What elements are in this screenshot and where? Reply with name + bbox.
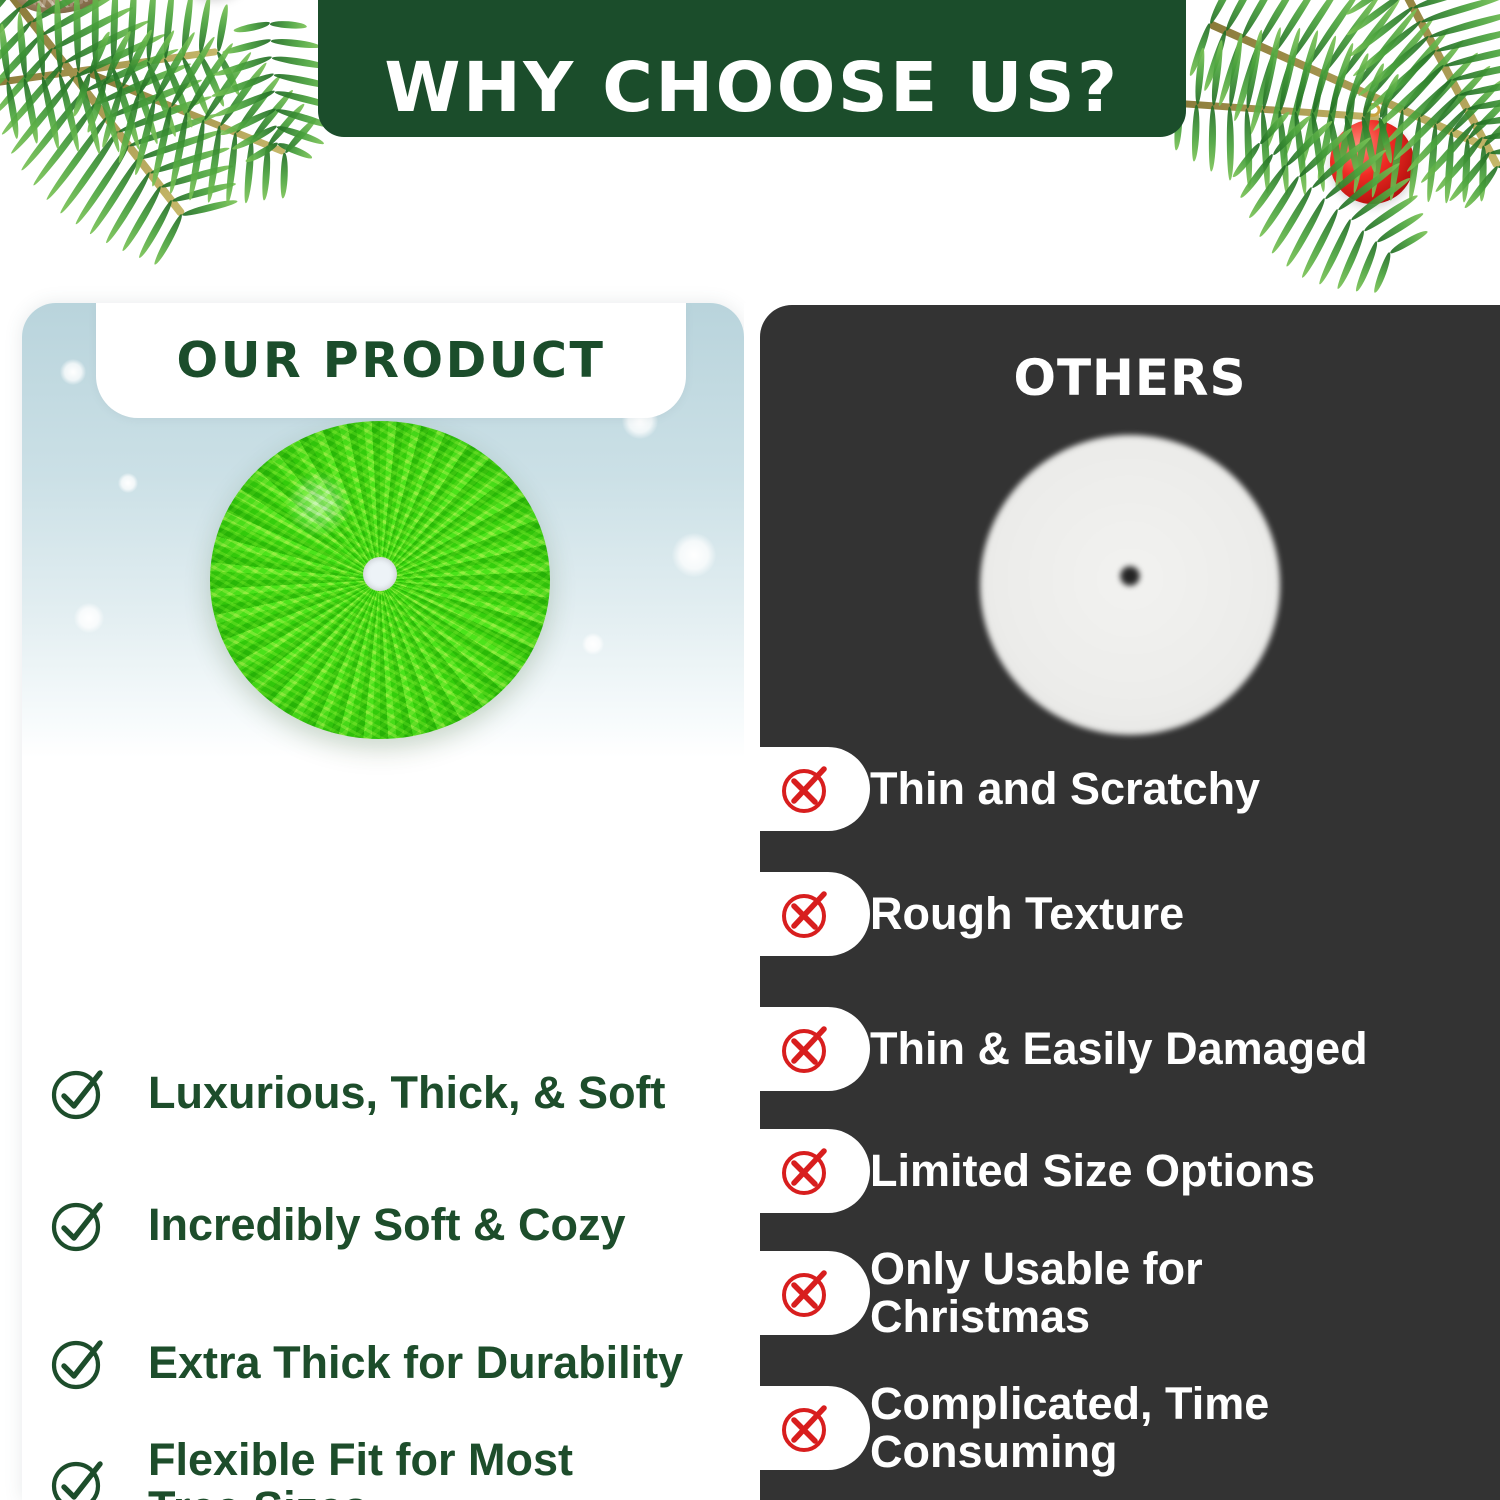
pine-needle: [15, 12, 28, 79]
pine-needle: [1326, 113, 1345, 187]
pine-needle: [266, 101, 307, 148]
pine-needle: [1243, 108, 1253, 188]
pine-needle: [0, 5, 23, 57]
pine-needle: [73, 31, 166, 80]
others-panel: OTHERS Thin and Scratchy Rough Texture: [760, 305, 1500, 1500]
pine-needle: [127, 110, 219, 149]
pine-needle: [31, 102, 99, 188]
pine-needle: [1459, 74, 1500, 98]
pine-needle: [120, 185, 164, 253]
pine-needle: [212, 89, 276, 121]
pine-needle: [1293, 111, 1309, 195]
cross-circle-icon: [778, 1265, 834, 1321]
pine-needle: [1336, 0, 1401, 83]
pine-needle: [187, 119, 207, 201]
pine-needle: [1300, 207, 1341, 278]
our-product-panel: OUR PRODUCT Luxurious, Thick, & Soft Inc…: [22, 303, 744, 1500]
pine-needle: [205, 125, 223, 203]
panel-divider: [744, 303, 760, 1500]
pine-needle: [215, 50, 242, 97]
pine-needle: [222, 37, 272, 56]
pine-needle: [74, 70, 103, 154]
pine-needle: [1462, 164, 1500, 210]
pine-needle: [144, 60, 179, 138]
snow-dot: [672, 533, 716, 577]
pine-needle: [103, 28, 133, 81]
pine-needle: [73, 0, 82, 71]
pine-needle: [1223, 0, 1260, 32]
pine-needle: [1270, 113, 1313, 157]
pine-needle: [1264, 58, 1294, 148]
pine-needle: [1239, 0, 1281, 40]
pine-needle: [95, 60, 193, 107]
pine-needle: [168, 112, 191, 195]
pine-needle: [1359, 116, 1378, 173]
pine-needle: [92, 68, 123, 154]
pine-needle: [1372, 252, 1393, 295]
pine-needle: [44, 116, 110, 203]
pine-needle: [1231, 141, 1263, 180]
pine-needle: [180, 55, 213, 119]
our-product-label-pill: OUR PRODUCT: [96, 303, 686, 418]
pine-cone: [2, 0, 130, 24]
pine-needle: [1461, 138, 1471, 202]
pine-needle: [1320, 0, 1383, 76]
pine-needle: [1217, 37, 1246, 108]
pine-needle: [1435, 24, 1500, 54]
pine-needle: [1482, 104, 1500, 148]
others-label: OTHERS: [760, 349, 1500, 407]
pine-needle: [1257, 109, 1291, 146]
pine-needle: [1323, 146, 1388, 201]
pine-needle: [214, 3, 229, 52]
pine-needle: [1343, 51, 1371, 116]
pine-needle: [1368, 16, 1435, 98]
pine-needle: [88, 157, 142, 236]
pine-needle: [224, 132, 239, 204]
pine-needle: [1467, 91, 1500, 112]
pine-needle: [210, 72, 275, 101]
pine-needle: [22, 78, 41, 145]
product-feature-label: Luxurious, Thick, & Soft: [148, 1069, 666, 1117]
pine-needle: [1407, 116, 1423, 202]
pine-needle: [1376, 72, 1400, 118]
others-feature-label: Limited Size Options: [870, 1147, 1315, 1195]
pine-branch-stem: [1180, 100, 1380, 121]
pine-branch-stem: [0, 48, 218, 87]
pine-needle: [1310, 112, 1328, 192]
pine-needle: [1354, 241, 1381, 294]
pine-branch-stem: [7, 0, 186, 217]
product-feature-row: Incredibly Soft & Cozy: [22, 1181, 744, 1269]
others-feature-row: Thin & Easily Damaged: [760, 1005, 1500, 1093]
pine-needle: [1344, 0, 1399, 17]
pine-needle: [162, 0, 177, 59]
pine-needle: [244, 140, 280, 165]
pine-needle: [51, 4, 134, 52]
pine-needle: [153, 212, 186, 266]
pine-needle: [231, 123, 279, 152]
pine-needle: [277, 140, 314, 160]
product-feature-label: Incredibly Soft & Cozy: [148, 1201, 626, 1249]
pine-needle: [104, 171, 153, 245]
pine-needle: [106, 76, 203, 121]
pine-needle: [1226, 107, 1234, 181]
pine-needle: [1420, 0, 1500, 25]
others-feature-row: Only Usable for Christmas: [760, 1235, 1500, 1351]
pine-needle: [1243, 29, 1264, 109]
pine-needle: [1247, 163, 1289, 220]
snow-dot: [74, 603, 104, 633]
pine-needle: [1417, 50, 1480, 119]
pine-needle: [1232, 44, 1262, 122]
pine-needle: [92, 0, 99, 69]
pine-needle: [1388, 109, 1407, 201]
pine-needle: [0, 19, 34, 78]
others-feature-row: Rough Texture: [760, 870, 1500, 958]
snow-dot: [582, 633, 604, 655]
pine-needle: [1388, 228, 1429, 256]
pine-needle: [150, 106, 174, 187]
pine-needle: [162, 58, 196, 129]
pine-needle: [149, 145, 230, 176]
pine-needle: [100, 86, 126, 150]
others-feature-row: Complicated, Time Consuming: [760, 1370, 1500, 1486]
red-ornament-ball: [1330, 120, 1414, 204]
pine-needle: [1349, 176, 1412, 223]
pine-needle: [1433, 135, 1485, 194]
pine-needle: [197, 52, 227, 107]
pine-needle: [271, 37, 322, 50]
pine-needle: [1288, 0, 1344, 61]
pine-needle: [1405, 106, 1470, 174]
pine-needle: [1356, 33, 1431, 98]
pine-needle: [168, 35, 217, 108]
snow-dot: [118, 473, 138, 493]
cross-circle-icon: [778, 1143, 834, 1199]
pine-needle: [160, 162, 234, 190]
pine-needle: [1298, 73, 1326, 171]
pine-needle: [217, 61, 268, 128]
others-feature-label: Complicated, Time Consuming: [870, 1380, 1269, 1476]
pine-needle: [1412, 0, 1490, 10]
pine-needle: [1360, 62, 1387, 118]
pine-needle: [71, 72, 93, 118]
check-circle-icon: [48, 1333, 108, 1393]
pine-needle: [1336, 160, 1401, 212]
pine-needle: [87, 30, 112, 75]
pine-needle: [0, 46, 56, 118]
pine-needle: [197, 0, 213, 54]
pine-needle: [109, 65, 142, 150]
pine-needle: [1370, 102, 1391, 198]
pine-needle: [119, 28, 154, 89]
others-feature-label: Rough Texture: [870, 890, 1184, 938]
pine-branch-stem: [1208, 20, 1485, 149]
pine-needle: [213, 54, 273, 79]
pine-needle: [1310, 134, 1373, 189]
pine-needle: [136, 199, 174, 260]
pine-needle: [1284, 196, 1328, 268]
pine-needle: [1443, 40, 1500, 68]
pine-needle: [109, 0, 119, 66]
pine-needle: [62, 17, 150, 66]
pine-needle: [1346, 0, 1408, 38]
pine-needle: [1375, 210, 1425, 245]
pine-needle: [57, 73, 83, 153]
pine-needle: [1255, 0, 1302, 47]
pine-needle: [4, 80, 20, 138]
pine-needle: [1257, 174, 1302, 238]
pine-needle: [1433, 63, 1492, 126]
pine-needle: [1352, 6, 1419, 90]
snow-dot: [60, 359, 86, 385]
pine-needle: [0, 0, 12, 36]
pine-needle: [219, 106, 277, 138]
pine-needle: [1297, 125, 1355, 179]
pine-needle: [152, 30, 197, 101]
pine-needle: [133, 99, 159, 176]
pine-needle: [1448, 150, 1493, 203]
pine-needle: [243, 139, 256, 204]
pine-needle: [1474, 109, 1500, 127]
pine-needle: [85, 79, 109, 134]
pine-needle: [1362, 193, 1419, 234]
pine-needle: [1310, 35, 1339, 114]
others-feature-label: Thin and Scratchy: [870, 765, 1260, 813]
pine-needle: [1352, 95, 1375, 194]
ornament-hook: [1364, 103, 1381, 116]
pine-needle: [1443, 131, 1455, 203]
page-title: WHY CHOOSE US?: [384, 54, 1119, 123]
pine-needle: [1335, 230, 1367, 291]
others-feature-row: Limited Size Options: [760, 1127, 1500, 1215]
others-feature-label: Thin & Easily Damaged: [870, 1025, 1368, 1073]
pine-needle: [1191, 105, 1200, 162]
pine-needle: [41, 0, 117, 38]
competitor-image-thin-disc: [980, 435, 1280, 735]
pine-needle: [1317, 218, 1354, 286]
pine-needle: [30, 0, 98, 24]
pine-needle: [1210, 40, 1225, 106]
pine-needle: [58, 129, 120, 215]
pine-needle: [1371, 62, 1446, 133]
pine-needle: [233, 20, 271, 35]
pine-needle: [250, 87, 296, 141]
pine-needle: [1202, 30, 1229, 93]
others-feature-label: Only Usable for Christmas: [870, 1245, 1203, 1341]
pine-needle: [1272, 0, 1324, 54]
pine-needle: [201, 50, 253, 121]
pine-needle: [1270, 185, 1315, 254]
product-feature-label: Flexible Fit for Most Tree Sizes: [148, 1436, 573, 1500]
pine-needle: [1376, 117, 1394, 164]
pine-needle: [1284, 118, 1335, 168]
pine-needle: [233, 73, 282, 134]
pine-needle: [1281, 66, 1310, 161]
pine-needle: [1304, 0, 1364, 69]
pine-needle: [1479, 145, 1488, 201]
pine-needle: [1490, 143, 1500, 156]
pine-needle: [1207, 0, 1239, 25]
product-feature-label: Extra Thick for Durability: [148, 1339, 683, 1387]
header-banner: WHY CHOOSE US?: [318, 0, 1186, 137]
pine-needle: [1465, 91, 1500, 141]
pine-needle: [179, 0, 194, 57]
pine-needle: [262, 145, 272, 201]
cross-circle-icon: [778, 1400, 834, 1456]
pine-needle: [182, 197, 239, 218]
pine-needle: [184, 41, 235, 114]
pine-needle: [1193, 48, 1205, 105]
pine-needle: [73, 143, 132, 226]
others-feature-row: Thin and Scratchy: [760, 745, 1500, 833]
pine-needle: [1188, 22, 1214, 77]
product-feature-row: Extra Thick for Durability: [22, 1319, 744, 1407]
cross-circle-icon: [778, 886, 834, 942]
check-circle-icon: [48, 1195, 108, 1255]
our-product-label: OUR PRODUCT: [177, 332, 606, 389]
pine-needle: [280, 152, 289, 198]
check-circle-icon: [48, 1063, 108, 1123]
pine-needle: [276, 123, 326, 146]
pine-needle: [1248, 51, 1278, 136]
cross-circle-icon: [778, 1021, 834, 1077]
pine-needle: [1348, 4, 1416, 59]
pine-needle: [0, 32, 45, 98]
pine-needle: [20, 88, 89, 173]
pine-needle: [116, 93, 212, 135]
pine-needle: [1419, 121, 1478, 185]
pine-branch-stem: [1386, 0, 1500, 169]
pine-needle: [1238, 152, 1276, 200]
pine-needle: [39, 75, 61, 149]
pine-needle: [127, 63, 161, 145]
pine-needle: [1449, 77, 1500, 134]
pine-needle: [1293, 30, 1321, 113]
pine-needle: [1209, 106, 1217, 172]
pine-needle: [1351, 19, 1423, 79]
pine-needle: [0, 60, 67, 137]
pine-needle: [270, 20, 308, 30]
pine-needle: [1276, 27, 1302, 112]
pine-needle: [116, 92, 142, 163]
pine-needle: [1381, 77, 1454, 149]
pine-branch-stem: [89, 70, 286, 155]
pine-needle: [1333, 87, 1358, 187]
pine-needle: [1260, 109, 1272, 193]
pine-needle: [282, 116, 318, 155]
pine-needle: [127, 0, 139, 64]
pine-needle: [0, 23, 11, 81]
product-feature-row: Luxurious, Thick, & Soft: [22, 1049, 744, 1137]
pine-needle: [19, 0, 79, 10]
product-feature-row: Flexible Fit for Most Tree Sizes: [22, 1429, 744, 1500]
pine-needle: [1428, 8, 1500, 39]
pine-needle: [84, 45, 180, 93]
pine-needle: [53, 0, 63, 74]
pine-needle: [1260, 26, 1284, 110]
cross-circle-icon: [778, 761, 834, 817]
pine-needle: [9, 74, 77, 156]
pine-needle: [1276, 110, 1290, 195]
decor-top-right: [1140, 0, 1500, 280]
pine-needle: [171, 180, 237, 204]
pine-needle: [1363, 48, 1439, 117]
check-circle-icon: [48, 1454, 108, 1500]
pine-needle: [1451, 57, 1500, 83]
pine-needle: [1343, 114, 1362, 180]
pine-needle: [1482, 126, 1500, 141]
product-image-tree-skirt: [210, 421, 550, 739]
pine-needle: [144, 0, 157, 62]
pine-needle: [34, 2, 46, 77]
pine-needle: [1392, 92, 1461, 163]
pine-needle: [1326, 42, 1355, 115]
pine-needle: [1315, 80, 1342, 180]
pine-needle: [1425, 124, 1439, 204]
pine-needle: [1226, 33, 1244, 107]
pine-needle: [138, 127, 225, 162]
infographic-canvas: WHY CHOOSE US? OUR PRODUCT Luxurious, Th…: [0, 0, 1500, 1500]
pine-needle: [136, 28, 177, 95]
pine-needle: [1401, 38, 1466, 112]
pine-needle: [1385, 26, 1452, 104]
